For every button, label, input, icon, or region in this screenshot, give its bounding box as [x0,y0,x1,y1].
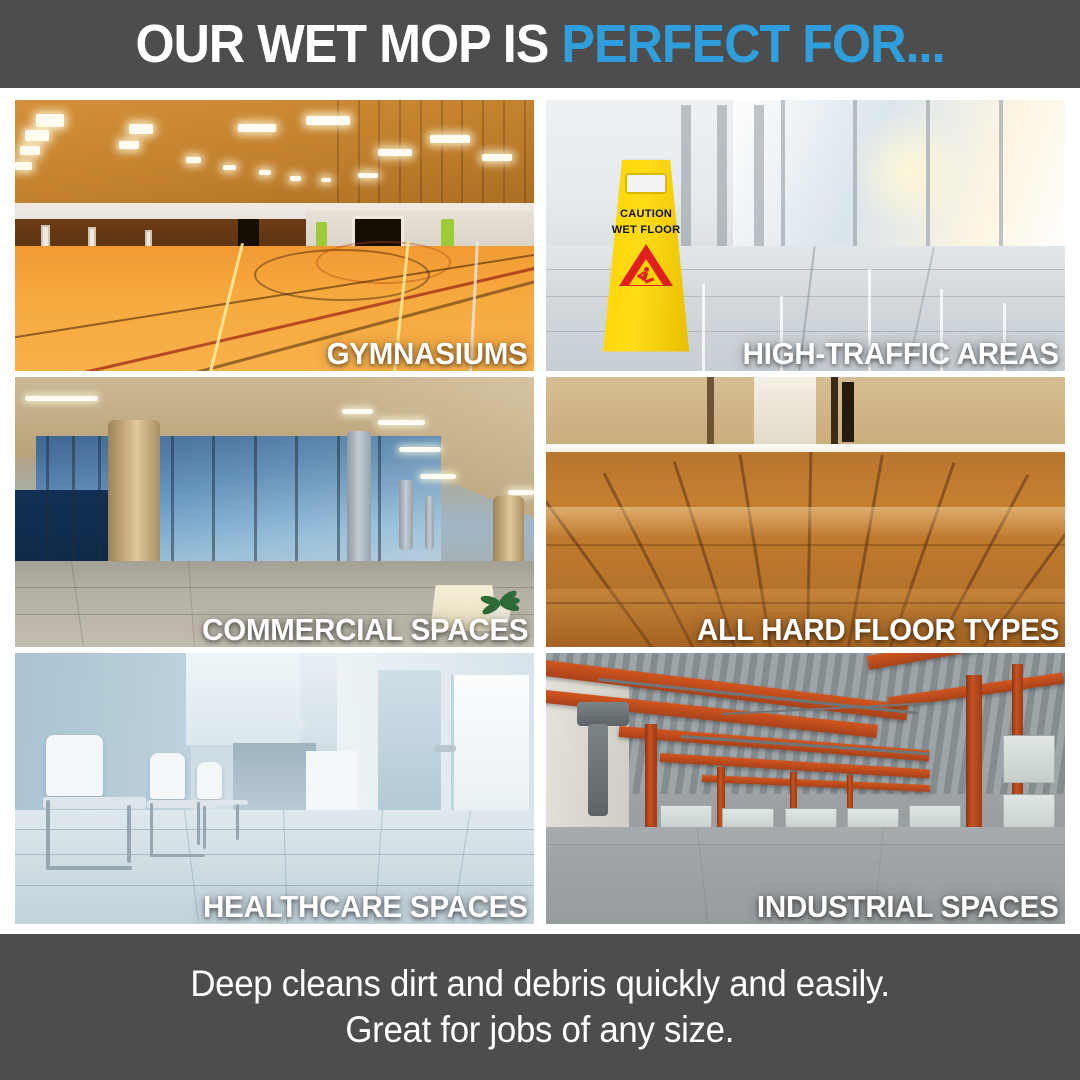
sign-line-2: WET FLOOR [603,224,689,236]
hardwood-floor-photo: ALL HARD FLOOR TYPES [546,377,1065,648]
page-title: OUR WET MOP IS PERFECT FOR... [135,17,944,71]
sign-handle [625,173,666,194]
use-case-caption: GYMNASIUMS [327,338,528,369]
door-handle-icon [434,745,456,752]
page-title-primary: OUR WET MOP IS [135,14,561,74]
use-case-card-commercial-spaces: COMMERCIAL SPACES [15,377,534,648]
waiting-chair [191,762,258,859]
gym-ceiling [15,100,534,214]
waiting-chair [41,735,160,881]
industrial-photo: INDUSTRIAL SPACES [546,653,1065,924]
footer-line-2: Great for jobs of any size. [346,1009,735,1051]
use-case-card-healthcare-spaces: HEALTHCARE SPACES [15,653,534,924]
footer-banner: Deep cleans dirt and debris quickly and … [0,934,1080,1080]
slipping-person-icon [636,267,656,285]
footer-line-1: Deep cleans dirt and debris quickly and … [190,963,889,1005]
use-case-card-industrial-spaces: INDUSTRIAL SPACES [546,653,1065,924]
caution-wet-floor-sign: CAUTION WET FLOOR [603,160,689,352]
use-case-grid: GYMNASIUMS [0,88,1080,934]
use-case-caption: ALL HARD FLOOR TYPES [697,614,1059,645]
use-case-caption: INDUSTRIAL SPACES [757,891,1059,922]
page-title-accent: PERFECT FOR... [561,14,944,74]
sign-line-1: CAUTION [603,208,689,220]
product-infographic: OUR WET MOP IS PERFECT FOR... [0,0,1080,1080]
healthcare-photo: HEALTHCARE SPACES [15,653,534,924]
header-banner: OUR WET MOP IS PERFECT FOR... [0,0,1080,88]
use-case-card-all-hard-floor-types: ALL HARD FLOOR TYPES [546,377,1065,648]
use-case-card-gymnasiums: GYMNASIUMS [15,100,534,371]
sun-glare [842,116,972,226]
use-case-caption: HIGH-TRAFFIC AREAS [743,338,1059,369]
commercial-photo: COMMERCIAL SPACES [15,377,534,648]
use-case-caption: HEALTHCARE SPACES [203,891,528,922]
use-case-caption: COMMERCIAL SPACES [202,614,528,645]
gymnasium-photo: GYMNASIUMS [15,100,534,371]
use-case-card-high-traffic-areas: CAUTION WET FLOOR HIGH-TRAFFIC AREAS [546,100,1065,371]
high-traffic-photo: CAUTION WET FLOOR HIGH-TRAFFIC AREAS [546,100,1065,371]
